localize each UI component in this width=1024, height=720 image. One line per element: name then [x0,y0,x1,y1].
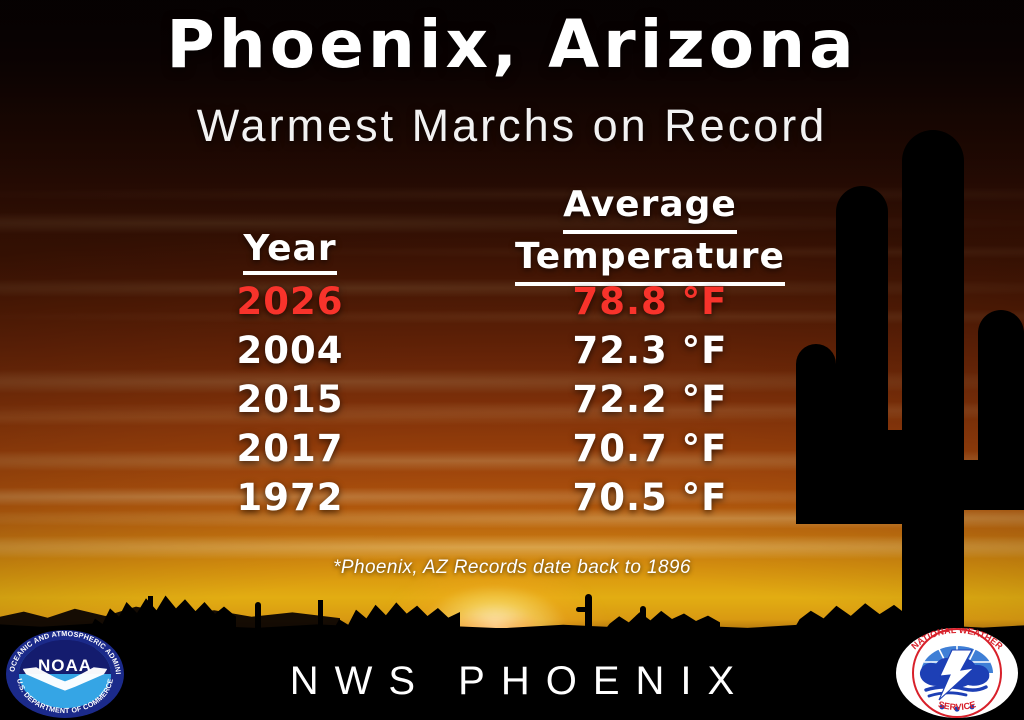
nws-arc-bottom-text: SERVICE [937,699,977,712]
office-label: NWS PHOENIX [0,659,1024,704]
cell-temperature: 70.5 °F [450,476,850,519]
cell-temperature: 70.7 °F [450,427,850,470]
table-row: 2017 70.7 °F [150,427,890,476]
table-body: 2026 78.8 °F 2004 72.3 °F 2015 72.2 °F 2… [150,280,890,525]
noaa-arc-top-text: NATIONAL OCEANIC AND ATMOSPHERIC ADMINIS… [6,630,123,675]
column-header-temperature: Average Temperature [450,182,850,286]
cell-year: 2026 [195,280,385,323]
column-header-temperature-line2: Temperature [515,234,785,286]
cell-year: 1972 [195,476,385,519]
table-row: 2004 72.3 °F [150,329,890,378]
cell-temperature: 72.3 °F [450,329,850,372]
nws-logo-graphic: NATIONAL WEATHER SERVICE [896,628,1018,718]
table-row: 1972 70.5 °F [150,476,890,525]
records-footnote: *Phoenix, AZ Records date back to 1896 [0,557,1024,579]
column-header-temperature-line1: Average [563,182,737,234]
page-title: Phoenix, Arizona [0,10,1024,79]
noaa-logo: NOAA NATIONAL OCEANIC AND ATMOSPHERIC AD… [6,630,124,718]
cell-year: 2015 [195,378,385,421]
table-row: 2015 72.2 °F [150,378,890,427]
cell-temperature: 78.8 °F [450,280,850,323]
cell-temperature: 72.2 °F [450,378,850,421]
records-table: Year Average Temperature 2026 78.8 °F 20… [150,182,890,525]
cell-year: 2017 [195,427,385,470]
table-row: 2026 78.8 °F [150,280,890,329]
noaa-arc-bottom-text: U.S. DEPARTMENT OF COMMERCE [15,678,115,715]
column-header-year: Year [195,228,385,275]
page-subtitle: Warmest Marchs on Record [0,100,1024,152]
noaa-ring-text: NATIONAL OCEANIC AND ATMOSPHERIC ADMINIS… [6,630,124,718]
infographic-poster: Phoenix, Arizona Warmest Marchs on Recor… [0,0,1024,720]
table-header-row: Year Average Temperature [150,182,890,278]
column-header-year-label: Year [243,228,336,275]
nws-logo: NATIONAL WEATHER SERVICE [896,628,1018,718]
cell-year: 2004 [195,329,385,372]
